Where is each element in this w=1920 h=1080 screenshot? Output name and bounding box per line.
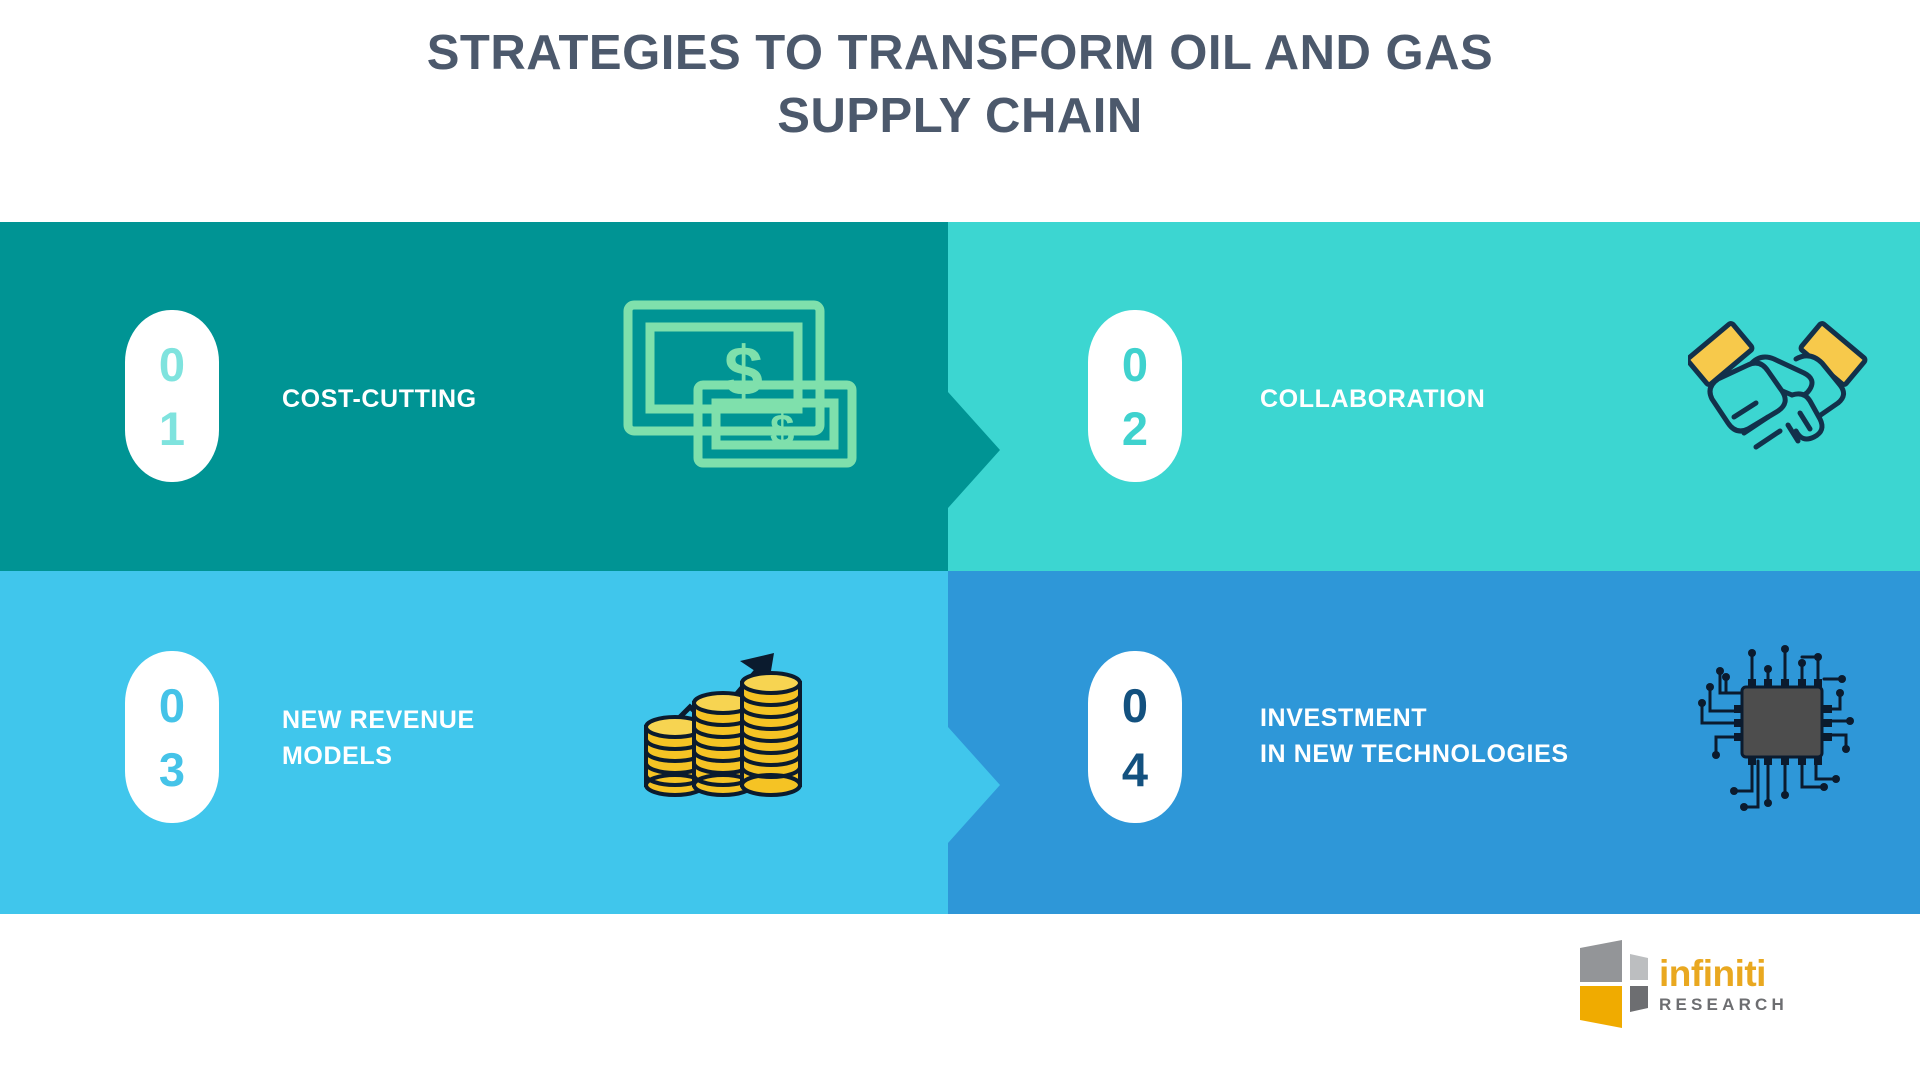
logo-mark-icon	[1578, 940, 1650, 1028]
strategy-panel-collaboration[interactable]: 0 2 COLLABORATION	[948, 222, 1920, 571]
logo-subtitle: RESEARCH	[1659, 996, 1788, 1013]
infographic-page: STRATEGIES TO TRANSFORM OIL AND GAS SUPP…	[0, 0, 1920, 1080]
panel-label-line-2: MODELS	[282, 739, 582, 775]
chevron-arrow-2	[948, 727, 1000, 843]
banknotes-icon: $ $	[620, 297, 860, 477]
panel-label-cost-cutting: COST-CUTTING	[282, 382, 572, 418]
panel-label-new-revenue-models: NEW REVENUE MODELS	[282, 703, 582, 774]
coin-stack-growth-icon	[632, 609, 822, 804]
panel-label-line-1: INVESTMENT	[1260, 701, 1740, 737]
panel-label-line-2: IN NEW TECHNOLOGIES	[1260, 737, 1740, 773]
svg-text:$: $	[770, 406, 794, 455]
chevron-arrow-1	[948, 392, 1000, 508]
page-title-line-1: STRATEGIES TO TRANSFORM OIL AND GAS	[0, 22, 1920, 85]
page-title-line-2: SUPPLY CHAIN	[0, 85, 1920, 148]
panel-number-badge-02: 0 2	[1088, 310, 1182, 482]
badge-digit-first: 0	[1122, 341, 1148, 388]
svg-text:$: $	[724, 332, 763, 410]
strategy-grid: 0 1 COST-CUTTING $ $ 0	[0, 222, 1920, 914]
logo-name: infiniti	[1659, 955, 1788, 992]
strategy-panel-cost-cutting[interactable]: 0 1 COST-CUTTING $ $	[0, 222, 948, 571]
panel-number-badge-01: 0 1	[125, 310, 219, 482]
panel-label-investment-technologies: INVESTMENT IN NEW TECHNOLOGIES	[1260, 701, 1740, 772]
badge-digit-first: 0	[159, 341, 185, 388]
logo-text: infiniti RESEARCH	[1659, 955, 1788, 1013]
badge-digit-first: 0	[1122, 682, 1148, 729]
strategy-panel-new-revenue-models[interactable]: 0 3 NEW REVENUE MODELS	[0, 571, 948, 914]
handshake-icon	[1688, 317, 1868, 472]
page-title: STRATEGIES TO TRANSFORM OIL AND GAS SUPP…	[0, 22, 1920, 147]
panel-label-collaboration: COLLABORATION	[1260, 382, 1640, 418]
badge-digit-second: 2	[1122, 405, 1148, 452]
panel-number-badge-03: 0 3	[125, 651, 219, 823]
badge-digit-first: 0	[159, 682, 185, 729]
panel-label-line-1: NEW REVENUE	[282, 703, 582, 739]
badge-digit-second: 3	[159, 746, 185, 793]
panel-number-badge-04: 0 4	[1088, 651, 1182, 823]
microchip-icon	[1690, 643, 1870, 823]
strategy-panel-investment-technologies[interactable]: 0 4 INVESTMENT IN NEW TECHNOLOGIES	[948, 571, 1920, 914]
badge-digit-second: 4	[1122, 746, 1148, 793]
badge-digit-second: 1	[159, 405, 185, 452]
brand-logo[interactable]: infiniti RESEARCH	[1578, 940, 1788, 1028]
